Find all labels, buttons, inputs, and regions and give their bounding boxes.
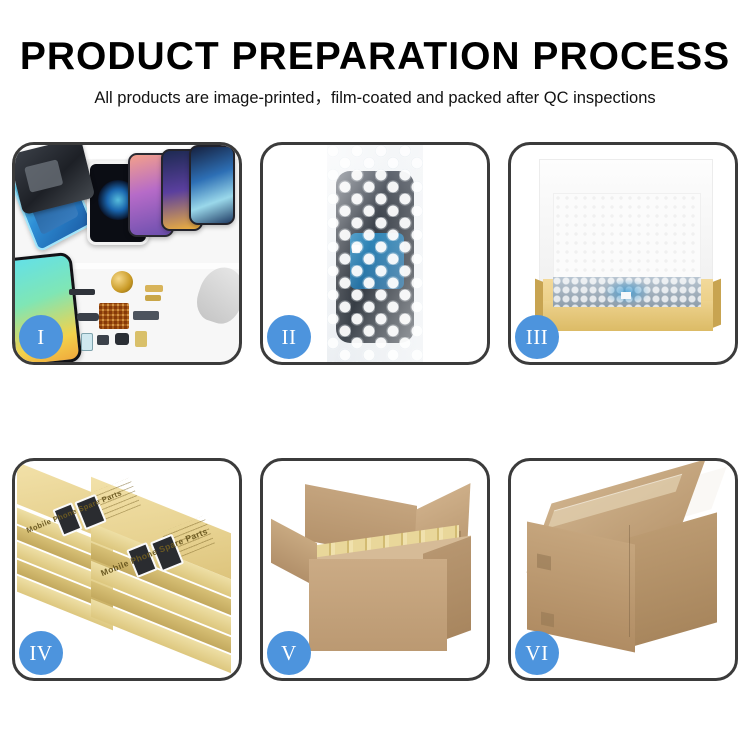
process-steps-grid: I II: [12, 142, 738, 734]
product-preparation-process-page: PRODUCT PREPARATION PROCESS All products…: [0, 0, 750, 750]
packed-product-label: [621, 292, 631, 299]
step-badge-1: I: [19, 315, 63, 359]
foam-insert-sheet: [553, 193, 701, 283]
page-subtitle: All products are image-printed，film-coat…: [0, 87, 750, 109]
carton-handle-cutout-1: [537, 554, 551, 571]
sealed-carton-seam: [629, 525, 630, 637]
page-title: PRODUCT PREPARATION PROCESS: [0, 34, 750, 80]
flex-cable-part-b: [77, 313, 99, 321]
process-step-panel-4[interactable]: Mobile Phone Spare Parts Mobile Phone Sp…: [12, 458, 242, 681]
carton-body-front: [309, 559, 447, 651]
step-badge-5: V: [267, 631, 311, 675]
connector-chip-part: [99, 303, 129, 329]
process-step-panel-5[interactable]: V: [260, 458, 490, 681]
process-step-panel-1[interactable]: I: [12, 142, 242, 365]
flex-cable-part-d: [145, 285, 163, 292]
speaker-module-part: [97, 335, 109, 345]
plastic-sheen-overlay: [327, 145, 423, 362]
flex-cable-part-a: [69, 289, 95, 295]
sealed-carton-side: [629, 512, 717, 647]
process-step-panel-6[interactable]: VI: [508, 458, 738, 681]
button-component-part: [81, 333, 93, 351]
retail-box-stack-right: [91, 505, 237, 671]
battery-connector-part: [135, 331, 147, 347]
header: PRODUCT PREPARATION PROCESS All products…: [0, 34, 750, 109]
step-badge-6: VI: [515, 631, 559, 675]
step-badge-4: IV: [19, 631, 63, 675]
flex-cable-part-e: [145, 295, 161, 301]
step-badge-2: II: [267, 315, 311, 359]
step-badge-3: III: [515, 315, 559, 359]
process-step-panel-3[interactable]: III: [508, 142, 738, 365]
phone-screen-assembly-4: [189, 145, 235, 225]
carton-handle-cutout-2: [541, 612, 554, 628]
process-step-panel-2[interactable]: II: [260, 142, 490, 365]
spare-parts-cluster: [73, 277, 169, 359]
vibration-motor-part: [111, 271, 133, 293]
flex-cable-part-c: [133, 311, 159, 320]
camera-module-part: [115, 333, 129, 345]
repair-tool: [191, 262, 239, 329]
